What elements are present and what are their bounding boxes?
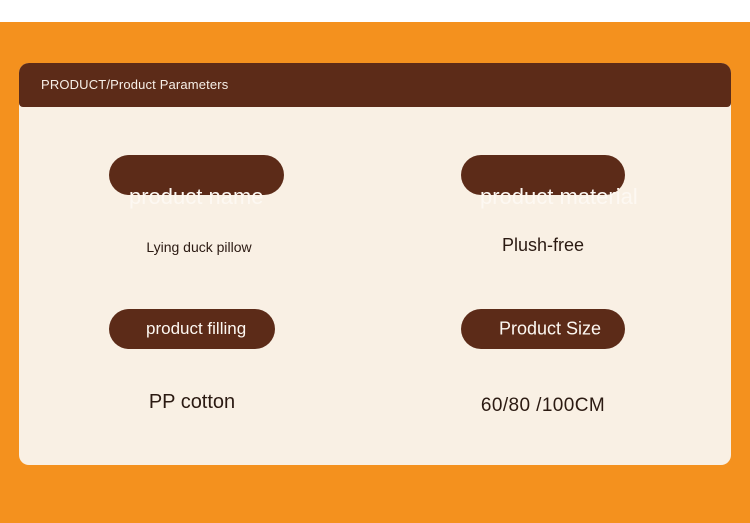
top-white-strip <box>0 0 750 22</box>
parameter-label-product-name: product name <box>129 184 264 210</box>
parameter-cell-product-material: product material Plush-free <box>375 107 731 287</box>
parameter-grid: product name Lying duck pillow product m… <box>19 107 731 465</box>
parameter-label-product-material: product material <box>480 184 638 210</box>
parameter-cell-product-name: product name Lying duck pillow <box>19 107 375 287</box>
parameter-pill-product-size: Product Size <box>461 309 625 349</box>
parameter-label-product-filling: product filling <box>146 319 246 339</box>
product-parameters-page: PRODUCT/Product Parameters product name … <box>0 0 750 523</box>
parameter-value-product-filling: PP cotton <box>72 391 312 414</box>
card-header-title: PRODUCT/Product Parameters <box>41 77 228 92</box>
parameter-value-product-material: Plush-free <box>423 235 663 256</box>
parameter-value-product-name: Lying duck pillow <box>79 239 319 255</box>
parameter-pill-product-filling: product filling <box>109 309 275 349</box>
card-header-bar: PRODUCT/Product Parameters <box>19 63 731 107</box>
parameter-cell-product-size: Product Size 60/80 /100CM <box>375 287 731 465</box>
product-parameters-card: PRODUCT/Product Parameters product name … <box>19 63 731 465</box>
parameter-value-product-size: 60/80 /100CM <box>423 395 663 417</box>
parameter-label-product-size: Product Size <box>499 319 601 340</box>
parameter-cell-product-filling: product filling PP cotton <box>19 287 375 465</box>
